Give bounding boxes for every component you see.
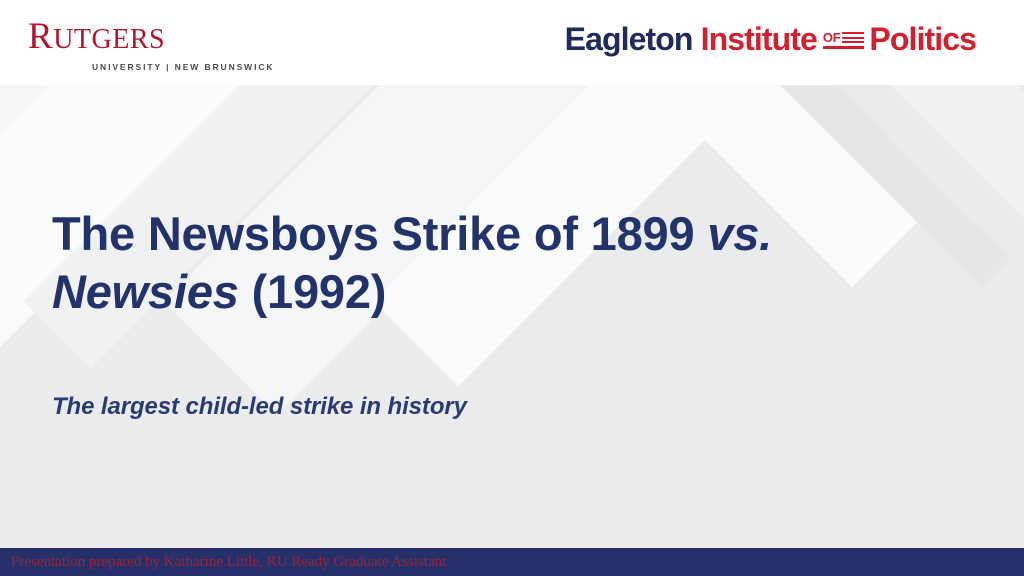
page-subtitle: The largest child-led strike in history [52, 392, 467, 422]
eagleton-word-institute: Institute [701, 22, 817, 56]
rutgers-wordmark-rest: UTGERS [53, 24, 165, 55]
page-title: The Newsboys Strike of 1899 vs. Newsies … [52, 205, 882, 321]
rutgers-wordmark-initial: R [28, 16, 53, 57]
eagleton-institute-logo: Eagleton Institute OF Politics [565, 22, 976, 56]
rutgers-wordmark: RUTGERS [28, 18, 328, 59]
header-band: RUTGERS UNIVERSITY | NEW BRUNSWICK Eagle… [0, 0, 1024, 85]
flag-baseline-icon [823, 46, 864, 48]
presentation-slide: RUTGERS UNIVERSITY | NEW BRUNSWICK Eagle… [0, 0, 1024, 576]
eagleton-word-eagleton: Eagleton [565, 22, 693, 56]
title-block: The Newsboys Strike of 1899 vs. Newsies … [52, 205, 882, 321]
title-segment-italic-newsies: Newsies [52, 265, 239, 318]
title-segment-italic-vs: vs. [707, 207, 772, 260]
flag-icon: OF [823, 31, 864, 49]
background-pattern [0, 85, 1024, 576]
eagleton-word-politics: Politics [869, 22, 976, 56]
title-segment-plain-1: The Newsboys Strike of 1899 [52, 207, 707, 260]
flag-stripes-icon [842, 32, 864, 44]
rutgers-logo: RUTGERS UNIVERSITY | NEW BRUNSWICK [28, 18, 328, 72]
title-segment-plain-2: (1992) [239, 265, 387, 318]
footer-bar: Presentation prepared by Katharine Littl… [0, 548, 1024, 576]
eagleton-word-of: OF [823, 31, 840, 44]
rutgers-tagline: UNIVERSITY | NEW BRUNSWICK [92, 62, 328, 72]
footer-credit-text: Presentation prepared by Katharine Littl… [11, 552, 446, 572]
